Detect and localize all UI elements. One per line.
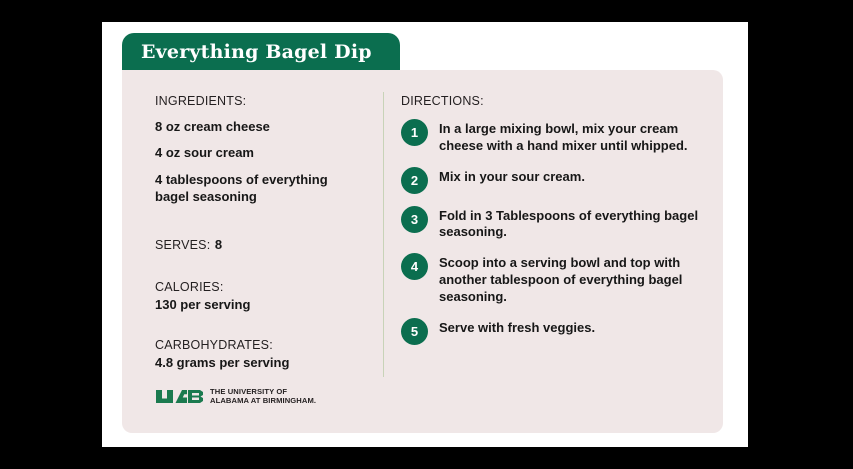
directions-column: DIRECTIONS: 1 In a large mixing bowl, mi… [384,70,723,433]
page-title: Everything Bagel Dip [141,41,372,63]
step-number-badge: 3 [401,206,428,233]
calories-block: CALORIES: 130 per serving [155,280,384,312]
serves-block: SERVES: 8 [155,236,384,254]
ingredients-heading: INGREDIENTS: [155,95,384,109]
step-number-badge: 2 [401,167,428,194]
directions-steps: 1 In a large mixing bowl, mix your cream… [401,118,705,345]
step-number-badge: 5 [401,318,428,345]
uab-logo-wordmark: THE UNIVERSITY OF ALABAMA AT BIRMINGHAM. [210,388,316,406]
step-number-badge: 4 [401,253,428,280]
step-text: Serve with fresh veggies. [439,317,595,337]
carbohydrates-label: CARBOHYDRATES: [155,338,384,352]
ingredients-column: INGREDIENTS: 8 oz cream cheese 4 oz sour… [122,70,384,433]
column-divider [383,92,384,377]
uab-logo: THE UNIVERSITY OF ALABAMA AT BIRMINGHAM. [155,388,316,406]
list-item: 5 Serve with fresh veggies. [401,317,705,345]
step-text: Fold in 3 Tablespoons of everything bage… [439,205,705,242]
step-text: Mix in your sour cream. [439,166,585,186]
list-item: 4 Scoop into a serving bowl and top with… [401,252,705,306]
recipe-content-panel: INGREDIENTS: 8 oz cream cheese 4 oz sour… [122,70,723,433]
recipe-columns: INGREDIENTS: 8 oz cream cheese 4 oz sour… [122,70,723,433]
uab-wordmark-line2: ALABAMA AT BIRMINGHAM. [210,397,316,406]
recipe-title-tab: Everything Bagel Dip [122,33,400,70]
step-number-badge: 1 [401,119,428,146]
list-item: 8 oz cream cheese [155,119,355,136]
list-item: 3 Fold in 3 Tablespoons of everything ba… [401,205,705,242]
serves-label: SERVES: [155,238,210,252]
list-item: 4 oz sour cream [155,145,355,162]
directions-heading: DIRECTIONS: [401,95,705,109]
recipe-card: Everything Bagel Dip INGREDIENTS: 8 oz c… [102,22,748,447]
list-item: 2 Mix in your sour cream. [401,166,705,194]
calories-value: 130 per serving [155,297,384,312]
carbohydrates-block: CARBOHYDRATES: 4.8 grams per serving [155,338,384,370]
step-text: In a large mixing bowl, mix your cream c… [439,118,705,155]
serves-value: 8 [215,237,222,252]
list-item: 1 In a large mixing bowl, mix your cream… [401,118,705,155]
calories-label: CALORIES: [155,280,384,294]
carbohydrates-value: 4.8 grams per serving [155,355,384,370]
step-text: Scoop into a serving bowl and top with a… [439,252,705,306]
list-item: 4 tablespoons of everything bagel season… [155,172,355,205]
uab-logo-mark-icon [155,389,205,404]
